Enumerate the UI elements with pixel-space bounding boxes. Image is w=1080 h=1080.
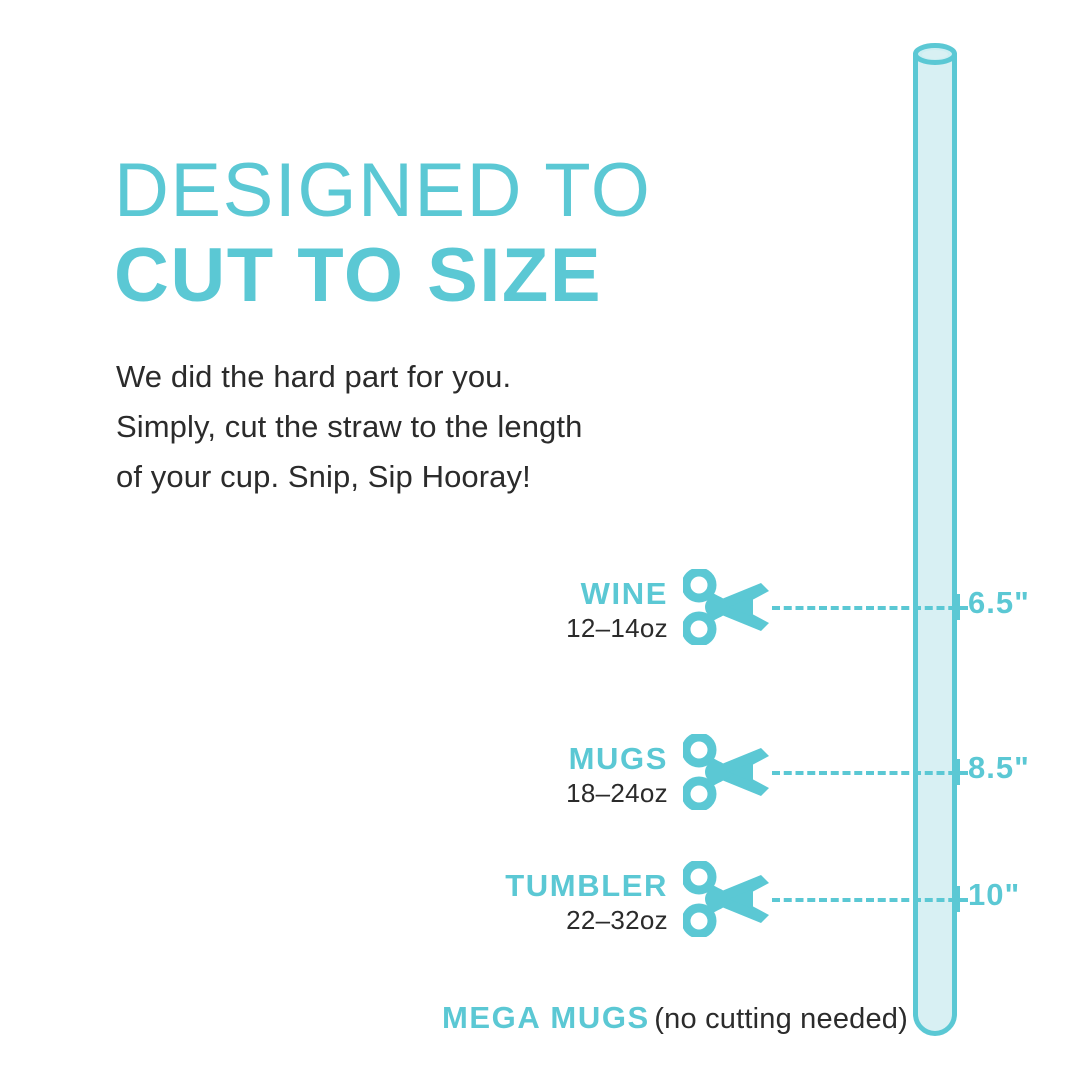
cut-capacity-wine: 12–14oz xyxy=(208,611,668,645)
scissors-icon xyxy=(683,861,779,937)
cut-label-block-tumbler: TUMBLER 22–32oz xyxy=(208,869,668,937)
scissors-icon xyxy=(683,569,779,645)
cut-capacity-mugs: 18–24oz xyxy=(208,776,668,810)
scissors-icon xyxy=(683,734,779,810)
measurement-mugs: 8.5" xyxy=(968,750,1030,786)
measurement-tumbler: 10" xyxy=(968,877,1020,913)
straw-illustration xyxy=(912,38,958,1038)
dash-line-mugs xyxy=(772,771,968,775)
straw-graphic xyxy=(912,38,958,1038)
headline-line-1: DESIGNED TO xyxy=(114,150,834,232)
body-copy: We did the hard part for you. Simply, cu… xyxy=(116,352,736,502)
body-copy-line-1: We did the hard part for you. xyxy=(116,352,736,402)
dash-line-tumbler xyxy=(772,898,968,902)
mega-mugs-label: MEGA MUGS xyxy=(442,1000,650,1035)
dash-tick-wine xyxy=(956,594,960,620)
cut-name-mugs: MUGS xyxy=(208,742,668,776)
infographic-page: DESIGNED TO CUT TO SIZE We did the hard … xyxy=(0,0,1080,1080)
cut-capacity-tumbler: 22–32oz xyxy=(208,903,668,937)
body-copy-line-2: Simply, cut the straw to the length xyxy=(116,402,736,452)
body-copy-line-3: of your cup. Snip, Sip Hooray! xyxy=(116,452,736,502)
page-title: DESIGNED TO CUT TO SIZE xyxy=(114,150,834,320)
cut-label-block-wine: WINE 12–14oz xyxy=(208,577,668,645)
measurement-wine: 6.5" xyxy=(968,585,1030,621)
dash-line-wine xyxy=(772,606,968,610)
dash-tick-tumbler xyxy=(956,886,960,912)
cut-label-block-mugs: MUGS 18–24oz xyxy=(208,742,668,810)
cut-name-tumbler: TUMBLER xyxy=(208,869,668,903)
cut-name-wine: WINE xyxy=(208,577,668,611)
mega-mugs-row: MEGA MUGS (no cutting needed) xyxy=(0,1000,908,1036)
mega-mugs-note: (no cutting needed) xyxy=(654,1003,908,1035)
dash-tick-mugs xyxy=(956,759,960,785)
headline-line-2: CUT TO SIZE xyxy=(114,232,834,320)
